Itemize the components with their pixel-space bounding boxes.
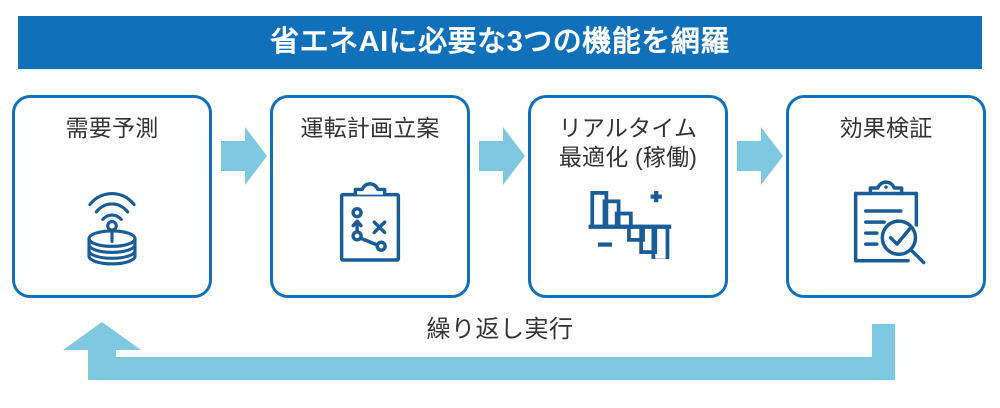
chevron-right-arrow-icon — [221, 127, 267, 185]
flow-step-label: 需要予測 — [66, 114, 159, 143]
chevron-right-arrow-icon — [737, 127, 783, 185]
flow-step-label: リアルタイム 最適化 (稼働) — [559, 114, 698, 173]
loop-label: 繰り返し実行 — [0, 318, 1000, 342]
database-signal-icon — [62, 173, 162, 273]
clipboard-magnifier-check-icon — [836, 173, 936, 273]
flow-step-effect-verification[interactable]: 効果検証 — [786, 95, 986, 298]
flow-step-realtime-optimization[interactable]: リアルタイム 最適化 (稼働) — [528, 95, 728, 298]
header-banner: 省エネAIに必要な3つの機能を網羅 — [18, 16, 982, 69]
flow-step-label: 運転計画立案 — [300, 114, 439, 143]
flow-step-label: 効果検証 — [840, 114, 933, 143]
waterfall-chart-plus-minus-icon — [578, 173, 678, 271]
page-title: 省エネAIに必要な3つの機能を網羅 — [270, 28, 730, 57]
chevron-right-arrow-icon — [479, 127, 525, 185]
flow-step-operation-planning[interactable]: 運転計画立案 — [270, 95, 470, 298]
flow-step-demand-forecast[interactable]: 需要予測 — [12, 95, 212, 298]
clipboard-strategy-icon — [320, 173, 420, 273]
